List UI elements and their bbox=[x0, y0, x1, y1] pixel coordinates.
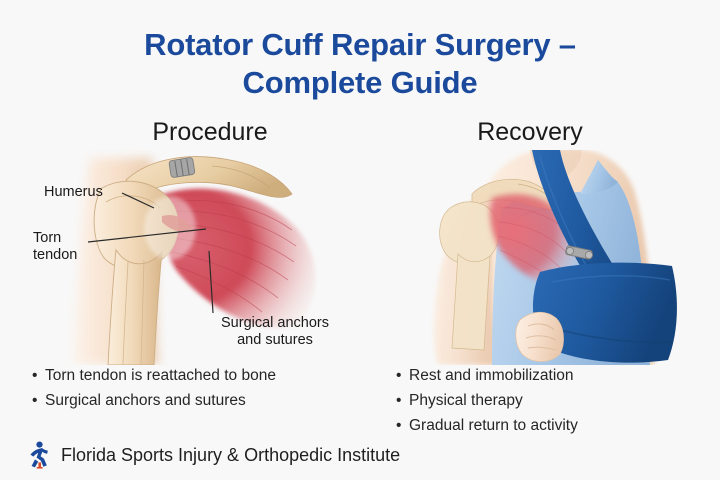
running-figure-logo-icon bbox=[22, 440, 52, 470]
list-item: •Surgical anchors and sutures bbox=[32, 388, 276, 413]
humerus-shaft-bone bbox=[108, 250, 162, 365]
list-item-label: Physical therapy bbox=[409, 392, 523, 409]
list-item-label: Gradual return to activity bbox=[409, 417, 578, 434]
bullet-marker: • bbox=[396, 388, 409, 413]
list-item: •Torn tendon is reattached to bone bbox=[32, 363, 276, 388]
suture-anchor-hardware bbox=[169, 157, 195, 178]
recovery-bullet-list: •Rest and immobilization •Physical thera… bbox=[396, 363, 578, 438]
list-item: •Gradual return to activity bbox=[396, 413, 578, 438]
section-heading-recovery: Recovery bbox=[390, 118, 670, 147]
infographic-canvas: Rotator Cuff Repair Surgery – Complete G… bbox=[0, 0, 720, 480]
list-item: •Physical therapy bbox=[396, 388, 578, 413]
arm-sling-illustration bbox=[380, 150, 700, 365]
bullet-marker: • bbox=[396, 413, 409, 438]
callout-label-torn-tendon: Torn tendon bbox=[33, 230, 77, 264]
bullet-marker: • bbox=[32, 363, 45, 388]
page-title: Rotator Cuff Repair Surgery – Complete G… bbox=[0, 26, 720, 102]
footer-branding: Florida Sports Injury & Orthopedic Insti… bbox=[22, 440, 400, 470]
list-item-label: Torn tendon is reattached to bone bbox=[45, 367, 276, 384]
list-item: •Rest and immobilization bbox=[396, 363, 578, 388]
list-item-label: Rest and immobilization bbox=[409, 367, 574, 384]
title-line-2: Complete Guide bbox=[0, 64, 720, 102]
bullet-marker: • bbox=[32, 388, 45, 413]
procedure-bullet-list: •Torn tendon is reattached to bone •Surg… bbox=[32, 363, 276, 413]
list-item-label: Surgical anchors and sutures bbox=[45, 392, 246, 409]
bullet-marker: • bbox=[396, 363, 409, 388]
section-heading-procedure: Procedure bbox=[60, 118, 360, 147]
callout-label-humerus: Humerus bbox=[44, 184, 103, 201]
footer-organization-name: Florida Sports Injury & Orthopedic Insti… bbox=[61, 445, 400, 466]
callout-label-surgical-anchors: Surgical anchors and sutures bbox=[205, 315, 345, 349]
hand-shape bbox=[516, 312, 564, 361]
title-line-1: Rotator Cuff Repair Surgery – bbox=[0, 26, 720, 64]
